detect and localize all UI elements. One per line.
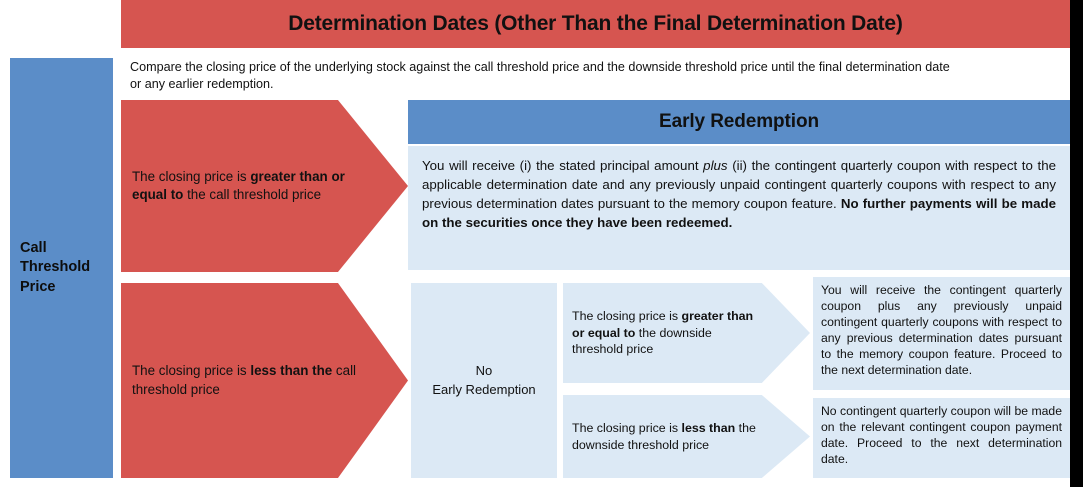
flowchart-canvas: Determination Dates (Other Than the Fina… <box>0 0 1083 487</box>
branch-arrow-call-less-than-label: The closing price is less than the call … <box>132 362 358 398</box>
outcome-no-coupon-text: No contingent quarterly coupon will be m… <box>821 403 1062 467</box>
outcome-box-no-coupon: No contingent quarterly coupon will be m… <box>813 398 1070 478</box>
no-early-redemption-box: NoEarly Redemption <box>411 283 557 478</box>
early-redemption-header-label: Early Redemption <box>659 111 819 133</box>
no-early-redemption-line2: Early Redemption <box>432 382 535 397</box>
early-redemption-body-text: You will receive (i) the stated principa… <box>422 156 1056 232</box>
branch-arrow-downside-greater-equal: The closing price is greater than or equ… <box>563 283 810 383</box>
no-early-redemption-line1: No <box>476 363 493 378</box>
early-redemption-header: Early Redemption <box>408 100 1070 144</box>
branch-arrow-call-greater-equal: The closing price is greater than or equ… <box>121 100 408 272</box>
outcome-box-coupon-paid: You will receive the contingent quarterl… <box>813 277 1070 390</box>
branch-arrow-call-greater-equal-label: The closing price is greater than or equ… <box>132 168 350 204</box>
sidebar-label: Call Threshold Price <box>20 239 113 296</box>
right-edge-strip <box>1070 0 1083 487</box>
branch-arrow-downside-less-than-label: The closing price is less than the downs… <box>572 420 762 453</box>
branch-arrow-downside-less-than: The closing price is less than the downs… <box>563 395 810 478</box>
page-title: Determination Dates (Other Than the Fina… <box>288 12 902 35</box>
sidebar-call-threshold-price: Call Threshold Price <box>10 58 113 478</box>
branch-arrow-call-less-than: The closing price is less than the call … <box>121 283 408 478</box>
early-redemption-body-panel: You will receive (i) the stated principa… <box>408 146 1070 270</box>
title-banner: Determination Dates (Other Than the Fina… <box>121 0 1070 48</box>
outcome-coupon-paid-text: You will receive the contingent quarterl… <box>821 282 1062 379</box>
no-early-redemption-label: NoEarly Redemption <box>432 362 535 398</box>
branch-arrow-downside-greater-equal-label: The closing price is greater than or equ… <box>572 308 762 358</box>
intro-paragraph: Compare the closing price of the underly… <box>130 59 960 94</box>
